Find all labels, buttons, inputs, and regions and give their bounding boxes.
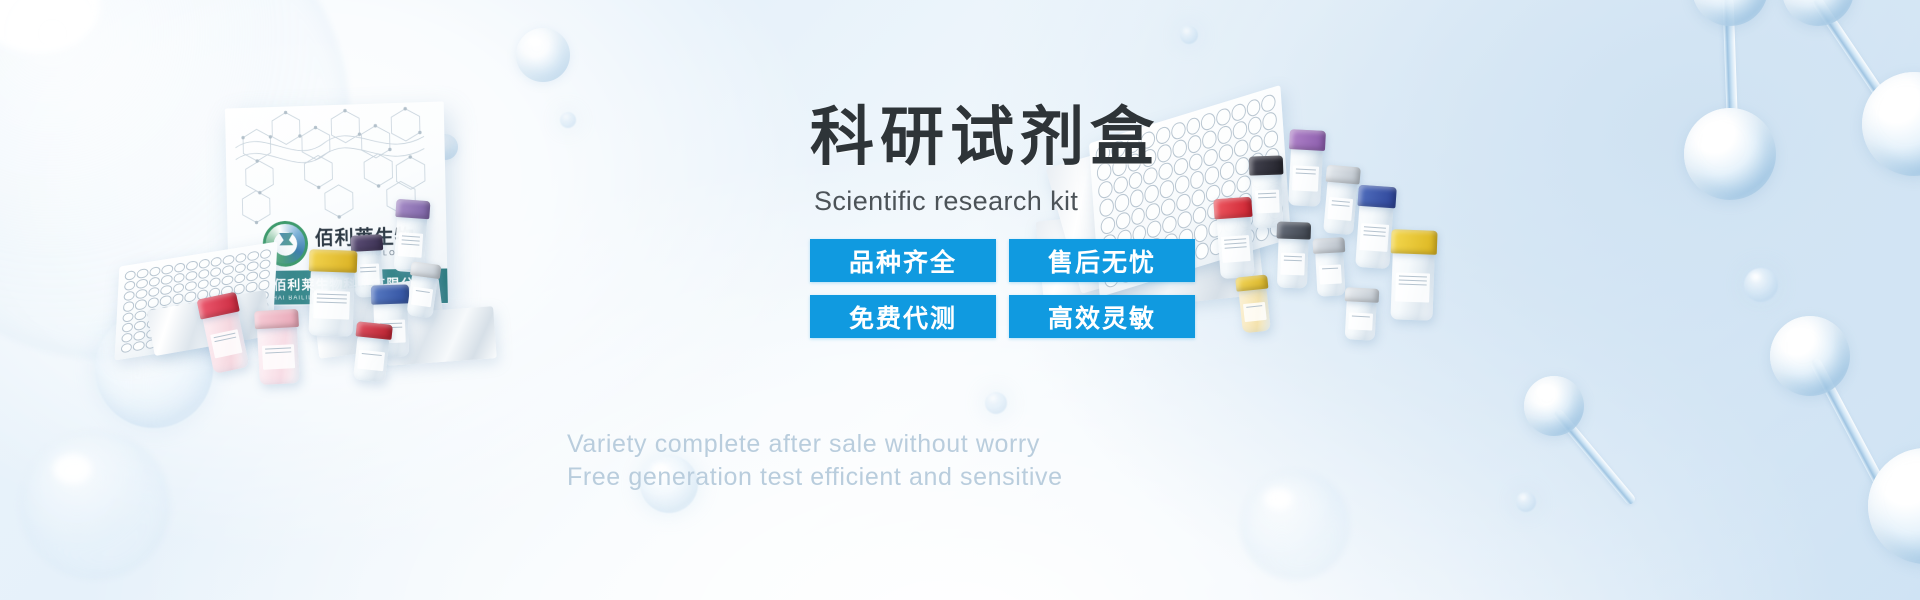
plate-well [123,301,135,312]
vial-cap [254,309,299,329]
plate-well [258,280,270,291]
plate-well [122,311,134,322]
reagent-vial [198,292,249,374]
plate-well [135,309,147,320]
plate-well [147,297,159,308]
plate-well [121,332,133,343]
plate-well [194,331,206,342]
vial-label [313,290,349,319]
plate-well [259,259,271,270]
molecule-node [1782,0,1854,26]
plate-well [221,296,233,307]
plate-well [198,269,210,280]
plate-well [133,340,145,351]
plate-well [247,251,259,262]
kit-brand-name-cn: 佰利莱生物 [315,227,416,248]
vial-cap [197,292,240,320]
plate-well [149,266,161,277]
plate-well [171,304,183,315]
plate-well [134,320,146,331]
decorative-bubble [95,310,213,428]
decorative-bubble [516,28,570,82]
plate-well [137,268,149,279]
plate-well [198,258,210,269]
hexagon-pattern-icon [225,101,448,306]
plate-well [158,336,170,347]
plate-well [210,267,222,278]
reagent-vial [394,199,429,273]
kit-company-name-cn: 上海佰利莱生物科技有限公司 [246,272,430,293]
left-product-photo: 佰利莱生物 BAILILAI BIOLOGY 上海佰利莱生物科技有限公司 SHA… [110,95,540,385]
brand-mark-icon [262,221,308,267]
reagent-vial [353,321,391,382]
decorative-bubble [1240,470,1350,580]
molecule-bond [1809,357,1889,495]
banner-title: 科研试剂盒 [810,105,1450,170]
plate-well [121,342,133,353]
molecule-bond [1723,0,1738,116]
plate-well [195,310,207,321]
plate-well [184,302,196,313]
plate-well [161,274,173,285]
vial-body [202,310,249,374]
plate-well [173,273,185,284]
plate-well [146,318,158,329]
decorative-bubble [560,112,576,128]
plate-well [247,261,259,272]
plate-well [148,287,160,298]
plate-well [259,249,271,260]
banner-subtitle: Scientific research kit [814,186,1450,217]
vial-body [309,269,355,336]
molecule-decoration [1530,380,1750,600]
feature-badge-sensitive[interactable]: 高效灵敏 [1009,295,1195,338]
plate-well [134,330,146,341]
plate-well [223,254,235,265]
molecule-node [1692,0,1768,26]
plate-well [173,283,185,294]
decorative-bubble [0,0,350,360]
reagent-vial [373,284,409,357]
vial-cap [395,199,430,219]
vial-label [262,344,295,370]
vial-cap [371,284,410,304]
plate-well [207,318,219,329]
plate-well [183,322,195,333]
plate-well [195,320,207,331]
plate-well [219,316,231,327]
vial-body [257,325,300,385]
plate-well [222,275,234,286]
kit-company-name-en: SHANGHAI BAILILAI BIOTECHNOLOGY CO., LTD… [246,294,429,302]
reagent-vial [309,249,356,336]
plate-well [160,295,172,306]
plate-well [233,294,245,305]
plate-well [161,264,173,275]
plate-well [234,263,246,274]
feature-badge-aftersale[interactable]: 售后无忧 [1009,239,1195,282]
plate-well [122,322,134,333]
plate-well [220,306,232,317]
plate-well [209,277,221,288]
plate-well [235,252,247,263]
plate-well [170,324,182,335]
vial-label [410,287,433,307]
plate-well [207,329,219,340]
banner-content: 科研试剂盒 Scientific research kit 品种齐全 售后无忧 … [810,105,1450,338]
molecule-node [1868,448,1920,564]
molecule-bond [1811,0,1893,110]
plate-well [221,285,233,296]
plate-well [158,326,170,337]
molecule-decoration [1760,300,1920,600]
molecule-bond [1552,408,1637,506]
vial-body [353,248,383,297]
vial-body [406,273,438,318]
plate-well [186,260,198,271]
plate-well [197,289,209,300]
reagent-vial [352,234,383,297]
vial-label [210,329,243,359]
plate-well [136,289,148,300]
plate-well [222,265,234,276]
plate-well [208,308,220,319]
feature-badge-variety[interactable]: 品种齐全 [810,239,996,282]
microplate-left [115,242,278,361]
molecule-decoration [1800,0,1920,260]
plate-well [246,271,258,282]
molecule-decoration [1640,0,1920,320]
plate-well [231,325,243,336]
kit-brand-logo: 佰利莱生物 BAILILAI BIOLOGY [262,218,415,267]
reagent-vial [256,309,300,385]
molecule-node [1862,72,1920,176]
kit-company-band: 上海佰利莱生物科技有限公司 SHANGHAI BAILILAI BIOTECHN… [228,269,448,306]
plate-well [243,323,255,334]
vial-body [394,214,428,273]
foil-pouch [147,290,273,356]
vial-cap [309,249,358,273]
decorative-bubble [1180,26,1198,44]
plate-well [256,321,268,332]
plate-well [123,291,135,302]
promo-banner: 佰利莱生物 BAILILAI BIOLOGY 上海佰利莱生物科技有限公司 SHA… [0,0,1920,600]
plate-well [208,298,220,309]
reagent-vial [406,261,439,318]
foil-pouch [383,306,496,366]
vial-label [398,232,424,258]
plate-well [183,312,195,323]
plate-well [232,314,244,325]
plate-well [244,302,256,313]
plate-well [257,300,269,311]
plate-well [256,311,268,322]
decorative-bubble [1744,268,1778,302]
banner-taglines: Variety complete after sale without worr… [567,428,1063,494]
plate-well [196,300,208,311]
vial-body [353,335,389,382]
plate-well [233,283,245,294]
plate-well [210,256,222,267]
plate-well [174,262,186,273]
plate-well [159,316,171,327]
tagline-line-1: Variety complete after sale without worr… [567,428,1063,461]
decorative-bubble [1516,492,1536,512]
foil-pouch [311,277,446,358]
plate-well [219,327,231,338]
plate-well [185,281,197,292]
decorative-bubble [432,134,458,160]
plate-well [244,313,256,324]
decorative-bubble [20,430,170,580]
plate-well [171,314,183,325]
molecule-node [1684,108,1776,200]
plate-well [185,271,197,282]
plate-well [147,307,159,318]
plate-well [209,287,221,298]
plate-well [197,279,209,290]
tagline-line-2: Free generation test efficient and sensi… [567,461,1063,494]
vial-cap [410,261,442,279]
plate-well [125,270,137,281]
plate-well [184,291,196,302]
plate-well [234,273,246,284]
plate-well [232,304,244,315]
feature-badge-freetest[interactable]: 免费代测 [810,295,996,338]
feature-badge-list: 品种齐全 售后无忧 免费代测 高效灵敏 [810,239,1195,338]
vial-label [357,264,380,285]
vial-label [377,319,405,343]
plate-well [136,278,148,289]
vial-body [373,301,409,357]
plate-well [146,328,158,339]
kit-brand-name-en: BAILILAI BIOLOGY [315,249,415,258]
plate-well [170,335,182,346]
vial-label [357,350,384,371]
vial-cap [356,321,393,340]
molecule-node [1524,376,1584,436]
plate-well [135,299,147,310]
plate-well [258,269,270,280]
plate-well [182,333,194,344]
vial-cap [350,234,383,252]
plate-well [172,293,184,304]
plate-well [145,338,157,349]
plate-well [124,280,136,291]
decorative-bubble [985,392,1007,414]
brand-mark-inner-icon [275,233,297,257]
kit-box: 佰利莱生物 BAILILAI BIOLOGY 上海佰利莱生物科技有限公司 SHA… [225,101,448,306]
plate-well [160,285,172,296]
plate-well [245,292,257,303]
plate-well [257,290,269,301]
plate-well [246,282,258,293]
molecule-node [1770,316,1850,396]
plate-well [159,305,171,316]
plate-well [149,276,161,287]
